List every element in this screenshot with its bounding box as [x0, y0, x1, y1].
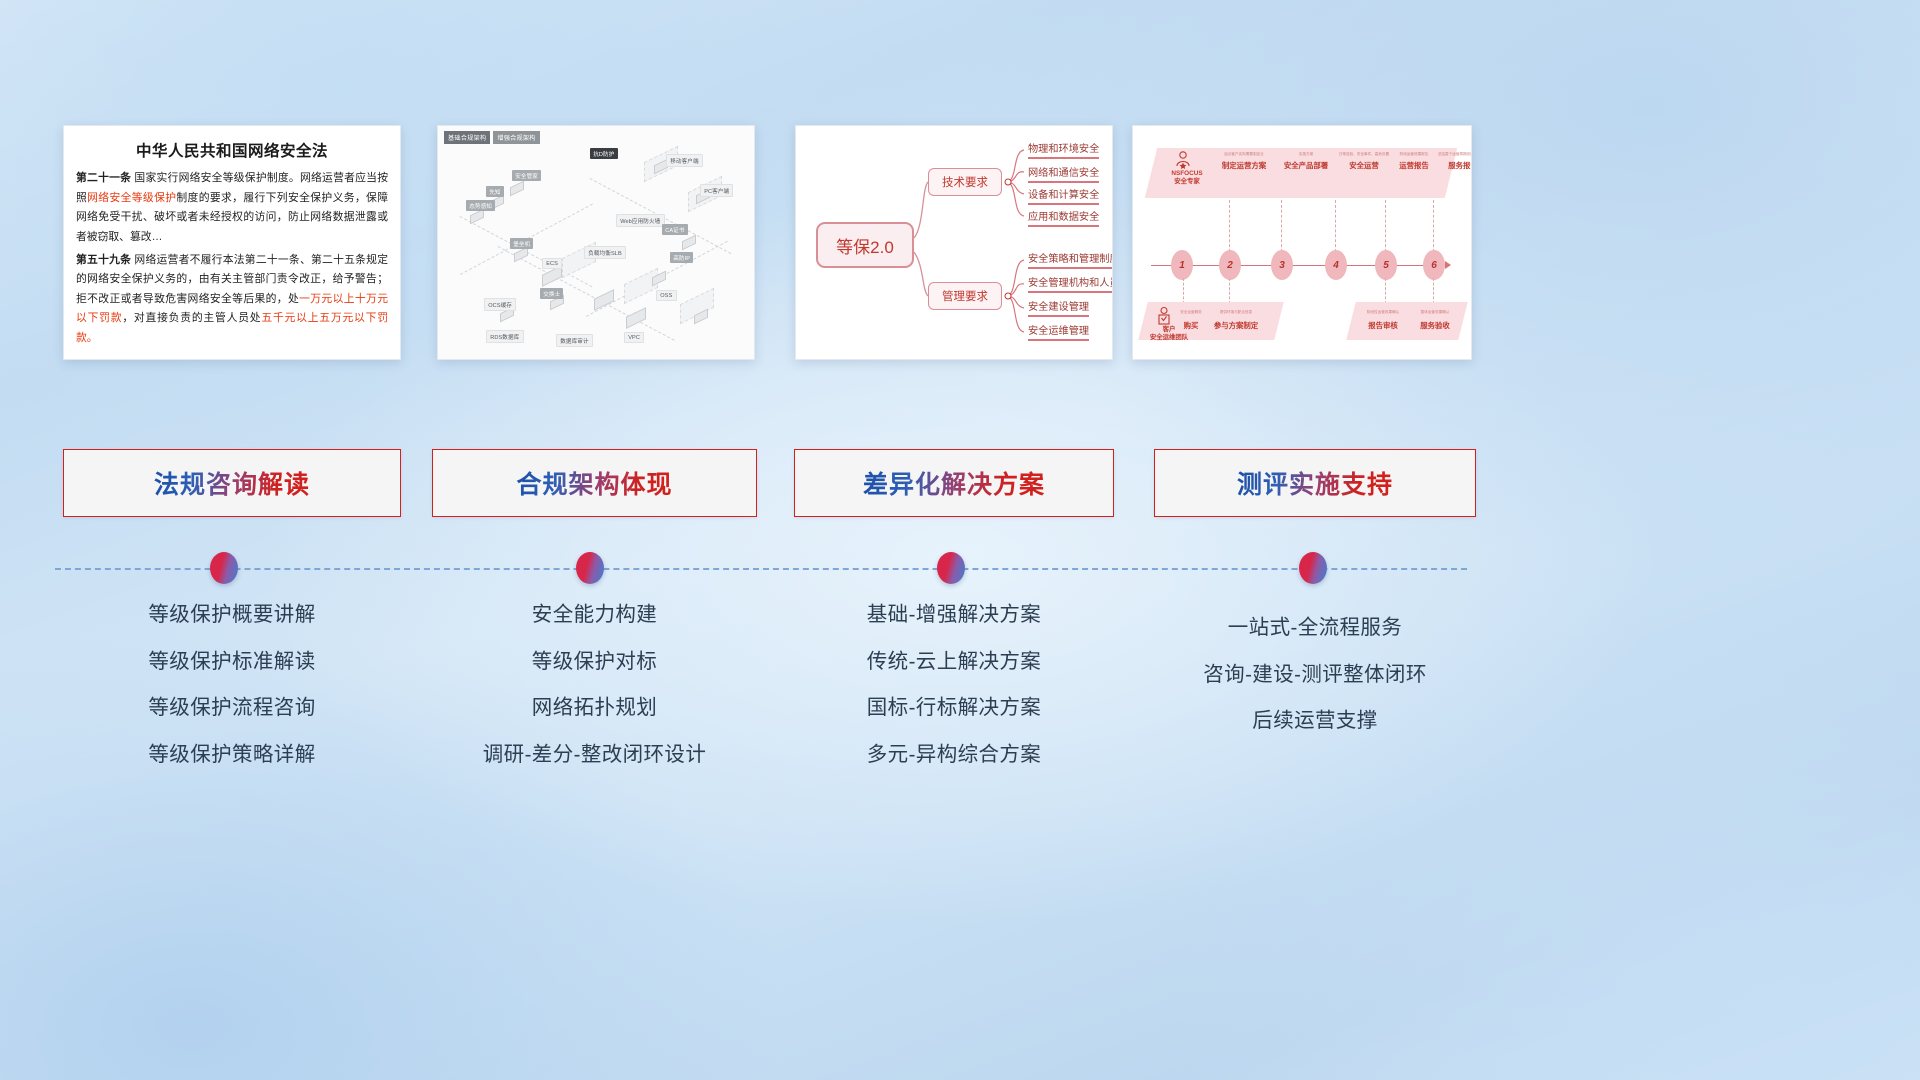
iso-node-antiddos: 抗D防护 [590, 148, 618, 159]
list-item: 等级保护流程咨询 [63, 698, 401, 719]
article-21-highlight: 网络安全等级保护 [87, 192, 176, 204]
timeline-node-1[interactable] [210, 552, 238, 584]
mindmap-branch-management: 管理要求 [928, 282, 1002, 310]
step-3-sub: 日常巡检、安全事件、高危处置 [1335, 152, 1393, 156]
article-21-label: 第二十一条 [76, 172, 131, 184]
step-3-main: 安全运营 [1335, 160, 1393, 171]
list-item: 安全能力构建 [432, 605, 757, 626]
list-item: 等级保护概要讲解 [63, 605, 401, 626]
bottom-step-1-main: 购买 [1173, 320, 1209, 331]
iso-cube [682, 235, 696, 251]
feature-list-column-1: 等级保护概要讲解 等级保护标准解读 等级保护流程咨询 等级保护策略详解 [63, 605, 401, 791]
architecture-diagram: 基础合规架构 增强合规架构 [438, 126, 754, 359]
timeline-connector [55, 568, 1467, 570]
iso-node-switch: 交换士 [540, 288, 563, 299]
list-item: 基础-增强解决方案 [794, 605, 1114, 626]
list-item: 后续运营支撑 [1154, 711, 1476, 732]
bottom-step-3-main: 报告审核 [1357, 320, 1409, 331]
mindmap-root-node: 等保2.0 [816, 222, 914, 268]
card-nsfocus-timeline[interactable]: NSFOCUS 安全专家 结合客户实际需要制定业 制定运营方案 实施方案 安全产… [1132, 125, 1472, 360]
label-text-4: 测评实施支持 [1237, 465, 1393, 501]
label-text-3: 差异化解决方案 [863, 465, 1045, 501]
nsfocus-step-number-4: 4 [1325, 250, 1347, 280]
list-item: 等级保护标准解读 [63, 652, 401, 673]
step-4-sub: 阶段运营效果报告 [1389, 152, 1439, 156]
label-box-differentiated-solution[interactable]: 差异化解决方案 [794, 449, 1114, 517]
mindmap-leaf-construction-mgmt: 安全建设管理 [1028, 298, 1089, 317]
nsfocus-stem [1183, 278, 1184, 304]
iso-cube [510, 181, 524, 197]
mindmap-leaf-security-policy: 安全策略和管理制度 [1028, 250, 1113, 269]
list-item: 等级保护策略详解 [63, 745, 401, 766]
nsfocus-process-diagram: NSFOCUS 安全专家 结合客户实际需要制定业 制定运营方案 实施方案 安全产… [1133, 126, 1471, 359]
step-5-main: 服务报告 [1437, 160, 1472, 171]
nsfocus-step-1: 结合客户实际需要制定业 制定运营方案 [1213, 152, 1275, 171]
step-2-main: 安全产品部署 [1277, 160, 1335, 171]
client-avatar-icon [1155, 306, 1173, 326]
mindmap-leaf-application-data: 应用和数据安全 [1028, 208, 1099, 227]
mindmap-branch-technical: 技术要求 [928, 168, 1002, 196]
nsfocus-step-number-1: 1 [1171, 250, 1193, 280]
list-item: 网络拓扑规划 [432, 698, 757, 719]
feature-list-column-2: 安全能力构建 等级保护对标 网络拓扑规划 调研-差分-整改闭环设计 [432, 605, 757, 791]
iso-node-ocs-cache: OCS缓存 [484, 298, 516, 311]
architecture-canvas: 抗D防护 态势感知 先知 安全管家 堡垒机 ECS 交换士 OCS缓存 RDS数… [438, 126, 754, 359]
list-item: 调研-差分-整改闭环设计 [432, 745, 757, 766]
nsfocus-step-number-6: 6 [1423, 250, 1445, 280]
bottom-step-2-main: 参与方案制定 [1205, 320, 1267, 331]
step-4-main: 运营报告 [1389, 160, 1439, 171]
law-article-21: 第二十一条 国家实行网络安全等级保护制度。网络运营者应当按照网络安全等级保护制度… [76, 169, 388, 248]
mindmap-leaf-operation-mgmt: 安全运维管理 [1028, 322, 1089, 341]
nsfocus-step-number-5: 5 [1375, 250, 1397, 280]
label-box-regulation-consulting[interactable]: 法规咨询解读 [63, 449, 401, 517]
timeline-node-2[interactable] [576, 552, 604, 584]
iso-node-security-butler: 安全管家 [512, 170, 541, 181]
iso-node-mobile-client: 移动客户端 [666, 154, 703, 167]
bottom-step-1-sub: 安全运营服务 [1173, 310, 1209, 315]
screenshot-cards-row: 中华人民共和国网络安全法 第二十一条 国家实行网络安全等级保护制度。网络运营者应… [0, 125, 1920, 360]
iso-node-ca-certificate: CA证书 [662, 224, 688, 235]
step-2-sub: 实施方案 [1277, 152, 1335, 156]
timeline-dashed-line [55, 568, 1467, 570]
nsfocus-stem [1335, 200, 1336, 252]
list-item: 一站式-全流程服务 [1154, 618, 1476, 639]
article-59-label: 第五十九条 [76, 254, 131, 266]
bottom-step-4-sub: 整体运营效果确认 [1409, 310, 1461, 315]
nsfocus-stem [1385, 278, 1386, 304]
expert-line-1: NSFOCUS [1163, 170, 1211, 178]
timeline-node-3[interactable] [937, 552, 965, 584]
feature-list-column-3: 基础-增强解决方案 传统-云上解决方案 国标-行标解决方案 多元-异构综合方案 [794, 605, 1114, 791]
bottom-step-4-main: 服务验收 [1409, 320, 1461, 331]
mindmap-diagram: 等保2.0 技术要求 物理和环境安全 网络和通信安全 设备和计算安全 应用和数据… [796, 126, 1112, 359]
expert-avatar-icon [1173, 150, 1193, 170]
mindmap-leaf-physical-environment: 物理和环境安全 [1028, 140, 1099, 159]
nsfocus-step-4: 阶段运营效果报告 运营报告 [1389, 152, 1439, 171]
law-article-59: 第五十九条 网络运营者不履行本法第二十一条、第二十五条规定的网络安全保护义务的，… [76, 251, 388, 349]
nsfocus-step-3: 日常巡检、安全事件、高危处置 安全运营 [1335, 152, 1393, 171]
step-1-main: 制定运营方案 [1213, 160, 1275, 171]
feature-list-column-4: 一站式-全流程服务 咨询-建设-测评整体闭环 后续运营支撑 [1154, 618, 1476, 758]
iso-node-vpc: VPC [624, 332, 644, 343]
nsfocus-axis-arrow [1445, 261, 1451, 269]
nsfocus-top-band-content: NSFOCUS 安全专家 结合客户实际需要制定业 制定运营方案 实施方案 安全产… [1151, 148, 1451, 198]
client-line-2: 安全运维团队 [1149, 334, 1189, 342]
expert-line-2: 安全专家 [1163, 178, 1211, 186]
step-1-sub: 结合客户实际需要制定业 [1213, 152, 1275, 156]
list-item: 咨询-建设-测评整体闭环 [1154, 665, 1476, 686]
nsfocus-step-number-3: 3 [1271, 250, 1293, 280]
iso-node-database-audit: 数据库审计 [556, 334, 593, 347]
mindmap-leaf-network-communication: 网络和通信安全 [1028, 164, 1099, 183]
iso-node-rds-database: RDS数据库 [486, 330, 524, 343]
iso-node-situational-awareness: 态势感知 [466, 200, 495, 211]
list-item: 国标-行标解决方案 [794, 698, 1114, 719]
label-box-evaluation-support[interactable]: 测评实施支持 [1154, 449, 1476, 517]
step-5-sub: 总结整个运营周期总体运营效果 [1437, 152, 1472, 156]
nsfocus-step-2: 实施方案 安全产品部署 [1277, 152, 1335, 171]
nsfocus-step-number-2: 2 [1219, 250, 1241, 280]
iso-node-oss: OSS [656, 290, 677, 301]
mindmap-leaf-management-org: 安全管理机构和人员 [1028, 274, 1113, 293]
iso-node-pc-client: PC客户端 [700, 184, 733, 197]
article-59-text-2: ，对直接负责的主管人员处 [122, 312, 261, 324]
nsfocus-stem [1433, 200, 1434, 252]
nsfocus-stem [1385, 200, 1386, 252]
nsfocus-expert-label: NSFOCUS 安全专家 [1163, 170, 1211, 186]
nsfocus-stem [1229, 278, 1230, 304]
nsfocus-step-5: 总结整个运营周期总体运营效果 服务报告 [1437, 152, 1472, 171]
iso-node-bastion-host: 堡垒机 [510, 238, 533, 249]
iso-node-waf: Web应用防火墙 [616, 214, 665, 227]
nsfocus-stem [1229, 200, 1230, 252]
nsfocus-stem [1281, 200, 1282, 252]
iso-plate [624, 268, 658, 305]
list-item: 多元-异构综合方案 [794, 745, 1114, 766]
card-dengbao-mindmap[interactable]: 等保2.0 技术要求 物理和环境安全 网络和通信安全 设备和计算安全 应用和数据… [795, 125, 1113, 360]
label-boxes-row: 法规咨询解读 合规架构体现 差异化解决方案 测评实施支持 [0, 449, 1920, 517]
iso-node-ecs: ECS [542, 258, 562, 269]
label-text-2: 合规架构体现 [516, 465, 672, 501]
list-item: 等级保护对标 [432, 652, 757, 673]
law-title: 中华人民共和国网络安全法 [76, 139, 388, 161]
card-compliance-architecture[interactable]: 基础合规架构 增强合规架构 [437, 125, 755, 360]
mindmap-leaf-device-computing: 设备和计算安全 [1028, 186, 1099, 205]
iso-node-slb: 负载均衡SLB [584, 246, 626, 259]
label-box-compliance-architecture[interactable]: 合规架构体现 [432, 449, 757, 517]
timeline-node-4[interactable] [1299, 552, 1327, 584]
bottom-step-3-sub: 阶段性运营效果确认 [1357, 310, 1409, 315]
bottom-step-2-sub: 提供环境与配合信息 [1205, 310, 1267, 315]
iso-node-prophet: 先知 [486, 186, 504, 197]
label-text-1: 法规咨询解读 [154, 465, 310, 501]
law-document: 中华人民共和国网络安全法 第二十一条 国家实行网络安全等级保护制度。网络运营者应… [64, 126, 400, 357]
nsfocus-axis-line [1151, 265, 1447, 266]
list-item: 传统-云上解决方案 [794, 652, 1114, 673]
nsfocus-stem [1433, 278, 1434, 304]
iso-node-high-defense-ip: 高防IP [670, 252, 693, 263]
card-cybersecurity-law[interactable]: 中华人民共和国网络安全法 第二十一条 国家实行网络安全等级保护制度。网络运营者应… [63, 125, 401, 360]
iso-cube [626, 307, 646, 329]
